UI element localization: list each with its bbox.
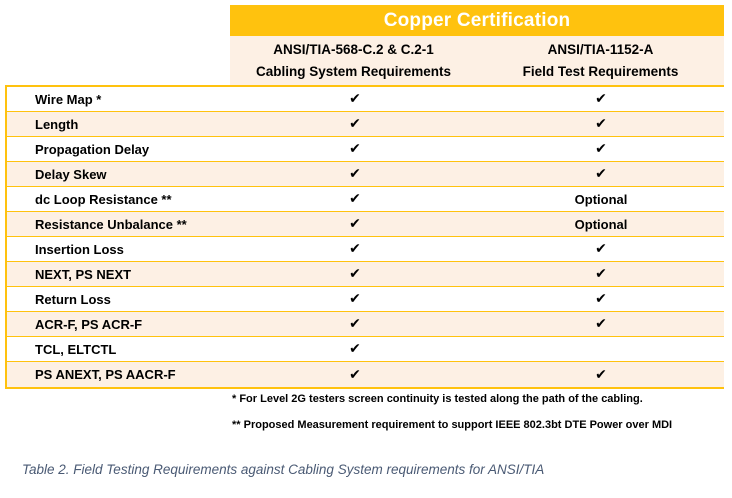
check-icon: ✔	[595, 367, 607, 381]
row-label: Insertion Loss	[7, 237, 232, 261]
footnotes: * For Level 2G testers screen continuity…	[232, 392, 727, 444]
table-row: PS ANEXT, PS AACR-F ✔ ✔	[7, 362, 724, 387]
column-header-line2: Cabling System Requirements	[256, 61, 451, 83]
cell-cabling-system: ✔	[232, 287, 478, 311]
row-label: NEXT, PS NEXT	[7, 262, 232, 286]
table-body: Wire Map * ✔ ✔ Length ✔ ✔ Propagation De…	[5, 85, 724, 389]
check-icon: ✔	[349, 216, 361, 230]
table-row: Delay Skew ✔ ✔	[7, 162, 724, 187]
cell-field-test	[478, 337, 724, 361]
cell-cabling-system: ✔	[232, 362, 478, 387]
copper-certification-table: Copper Certification ANSI/TIA-568-C.2 & …	[5, 0, 724, 386]
table-row: ACR-F, PS ACR-F ✔ ✔	[7, 312, 724, 337]
cell-cabling-system: ✔	[232, 187, 478, 211]
column-header-line1: ANSI/TIA-568-C.2 & C.2-1	[273, 39, 434, 61]
cell-field-test: ✔	[478, 262, 724, 286]
check-icon: ✔	[595, 141, 607, 155]
column-header-cabling-system: ANSI/TIA-568-C.2 & C.2-1 Cabling System …	[230, 36, 477, 85]
check-icon: ✔	[349, 166, 361, 180]
table-row: Resistance Unbalance ** ✔ Optional	[7, 212, 724, 237]
cell-field-test: Optional	[478, 187, 724, 211]
cell-field-test: ✔	[478, 237, 724, 261]
check-icon: ✔	[595, 91, 607, 105]
row-label: Propagation Delay	[7, 137, 232, 161]
cell-field-test: ✔	[478, 287, 724, 311]
check-icon: ✔	[349, 141, 361, 155]
check-icon: ✔	[595, 116, 607, 130]
cell-field-test: ✔	[478, 312, 724, 336]
cell-cabling-system: ✔	[232, 337, 478, 361]
cell-cabling-system: ✔	[232, 162, 478, 186]
check-icon: ✔	[349, 91, 361, 105]
footnote-single-asterisk: * For Level 2G testers screen continuity…	[232, 392, 727, 406]
column-header-line1: ANSI/TIA-1152-A	[548, 39, 654, 61]
check-icon: ✔	[595, 291, 607, 305]
row-label: Resistance Unbalance **	[7, 212, 232, 236]
table-row: Wire Map * ✔ ✔	[7, 87, 724, 112]
cell-cabling-system: ✔	[232, 212, 478, 236]
cell-field-test: ✔	[478, 87, 724, 111]
cell-field-test: ✔	[478, 162, 724, 186]
check-icon: ✔	[595, 166, 607, 180]
table-row: NEXT, PS NEXT ✔ ✔	[7, 262, 724, 287]
table-row: dc Loop Resistance ** ✔ Optional	[7, 187, 724, 212]
cell-cabling-system: ✔	[232, 87, 478, 111]
check-icon: ✔	[595, 316, 607, 330]
check-icon: ✔	[349, 191, 361, 205]
row-label: dc Loop Resistance **	[7, 187, 232, 211]
row-label: Return Loss	[7, 287, 232, 311]
table-row: Length ✔ ✔	[7, 112, 724, 137]
check-icon: ✔	[349, 266, 361, 280]
cell-field-test: Optional	[478, 212, 724, 236]
cell-cabling-system: ✔	[232, 237, 478, 261]
table-row: TCL, ELTCTL ✔	[7, 337, 724, 362]
row-label: PS ANEXT, PS AACR-F	[7, 362, 232, 387]
cell-cabling-system: ✔	[232, 112, 478, 136]
footnote-double-asterisk: ** Proposed Measurement requirement to s…	[232, 418, 727, 432]
check-icon: ✔	[349, 316, 361, 330]
check-icon: ✔	[349, 341, 361, 355]
table-row: Insertion Loss ✔ ✔	[7, 237, 724, 262]
cell-field-test: ✔	[478, 112, 724, 136]
table-banner-title: Copper Certification	[230, 5, 724, 36]
check-icon: ✔	[349, 116, 361, 130]
cell-cabling-system: ✔	[232, 137, 478, 161]
cell-field-test: ✔	[478, 137, 724, 161]
column-header-field-test: ANSI/TIA-1152-A Field Test Requirements	[477, 36, 724, 85]
row-label: Delay Skew	[7, 162, 232, 186]
row-label: Length	[7, 112, 232, 136]
cell-cabling-system: ✔	[232, 312, 478, 336]
check-icon: ✔	[595, 241, 607, 255]
table-caption: Table 2. Field Testing Requirements agai…	[22, 462, 544, 477]
table-row: Propagation Delay ✔ ✔	[7, 137, 724, 162]
check-icon: ✔	[349, 291, 361, 305]
cell-cabling-system: ✔	[232, 262, 478, 286]
row-label: Wire Map *	[7, 87, 232, 111]
cell-field-test: ✔	[478, 362, 724, 387]
check-icon: ✔	[349, 367, 361, 381]
check-icon: ✔	[349, 241, 361, 255]
table-column-headers: ANSI/TIA-568-C.2 & C.2-1 Cabling System …	[230, 36, 724, 85]
table-row: Return Loss ✔ ✔	[7, 287, 724, 312]
row-label: ACR-F, PS ACR-F	[7, 312, 232, 336]
check-icon: ✔	[595, 266, 607, 280]
row-label: TCL, ELTCTL	[7, 337, 232, 361]
column-header-line2: Field Test Requirements	[523, 61, 679, 83]
